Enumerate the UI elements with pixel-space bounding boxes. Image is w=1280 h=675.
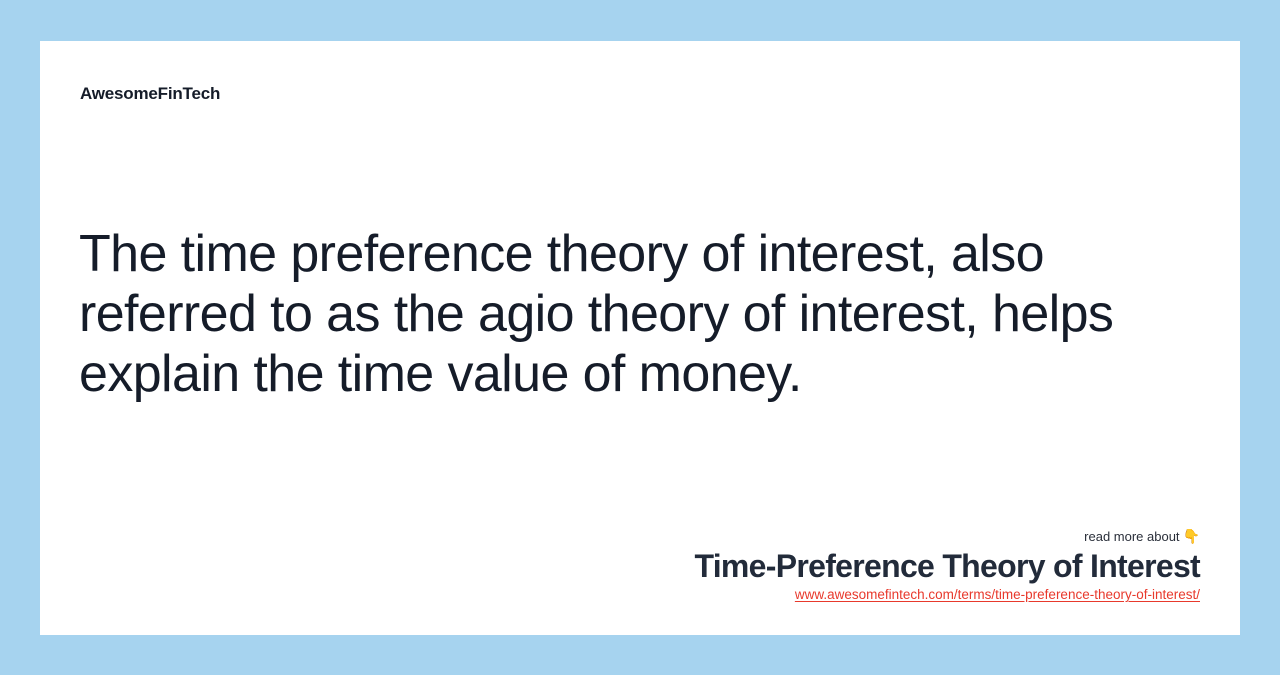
pointing-down-hand-icon: 👇 [1183,528,1200,544]
footer-block: read more about👇 Time-Preference Theory … [70,528,1200,604]
read-more-line: read more about👇 [70,528,1200,545]
read-more-label: read more about [1084,529,1179,544]
content-card: AwesomeFinTech The time preference theor… [40,41,1240,635]
page-background: AwesomeFinTech The time preference theor… [0,0,1280,675]
term-url-row: www.awesomefintech.com/terms/time-prefer… [70,585,1200,604]
quote-text: The time preference theory of interest, … [79,224,1201,404]
term-title: Time-Preference Theory of Interest [70,547,1200,585]
term-url-link[interactable]: www.awesomefintech.com/terms/time-prefer… [795,586,1200,604]
brand-logo: AwesomeFinTech [80,84,220,104]
